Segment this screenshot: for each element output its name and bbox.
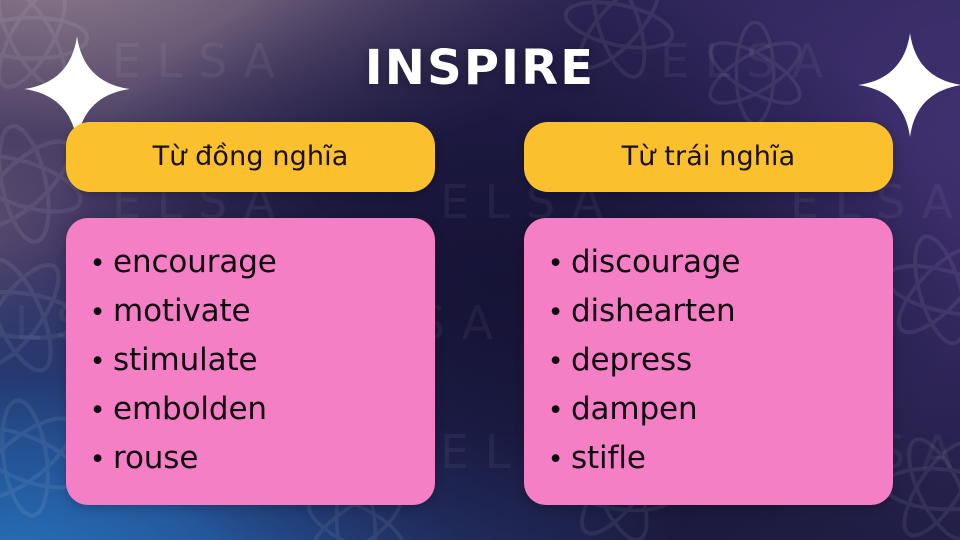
bullet-icon: • [540,341,571,384]
bullet-icon: • [82,243,113,286]
antonyms-list: •discourage•dishearten•depress•dampen•st… [540,238,877,483]
list-item: •discourage [540,238,877,287]
word-label: dampen [571,385,877,434]
page-title: INSPIRE [0,44,960,92]
antonyms-heading-label: Từ trái nghĩa [622,142,796,172]
word-label: rouse [113,434,419,483]
vocabulary-slide: ELSAELSAELSAELSAELSAELSAELSAELSAELSAELSA… [0,0,960,540]
bullet-icon: • [82,341,113,384]
word-label: encourage [113,238,419,287]
bullet-icon: • [82,292,113,335]
list-item: •dishearten [540,287,877,336]
list-item: •encourage [82,238,419,287]
antonyms-heading-pill[interactable]: Từ trái nghĩa [524,122,893,192]
word-label: depress [571,336,877,385]
word-label: dishearten [571,287,877,336]
synonyms-heading-pill[interactable]: Từ đồng nghĩa [66,122,435,192]
word-label: discourage [571,238,877,287]
bullet-icon: • [82,390,113,433]
list-item: •depress [540,336,877,385]
bullet-icon: • [540,292,571,335]
synonyms-heading-label: Từ đồng nghĩa [153,142,349,172]
word-label: motivate [113,287,419,336]
antonyms-column: Từ trái nghĩa •discourage•dishearten•dep… [524,122,893,505]
bullet-icon: • [82,439,113,482]
list-item: •rouse [82,434,419,483]
list-item: •stimulate [82,336,419,385]
word-label: embolden [113,385,419,434]
bullet-icon: • [540,243,571,286]
word-label: stifle [571,434,877,483]
bullet-icon: • [540,390,571,433]
list-item: •dampen [540,385,877,434]
word-label: stimulate [113,336,419,385]
synonyms-card: •encourage•motivate•stimulate•embolden•r… [66,218,435,505]
list-item: •motivate [82,287,419,336]
antonyms-card: •discourage•dishearten•depress•dampen•st… [524,218,893,505]
synonyms-column: Từ đồng nghĩa •encourage•motivate•stimul… [66,122,435,505]
list-item: •embolden [82,385,419,434]
bullet-icon: • [540,439,571,482]
list-item: •stifle [540,434,877,483]
synonyms-list: •encourage•motivate•stimulate•embolden•r… [82,238,419,483]
